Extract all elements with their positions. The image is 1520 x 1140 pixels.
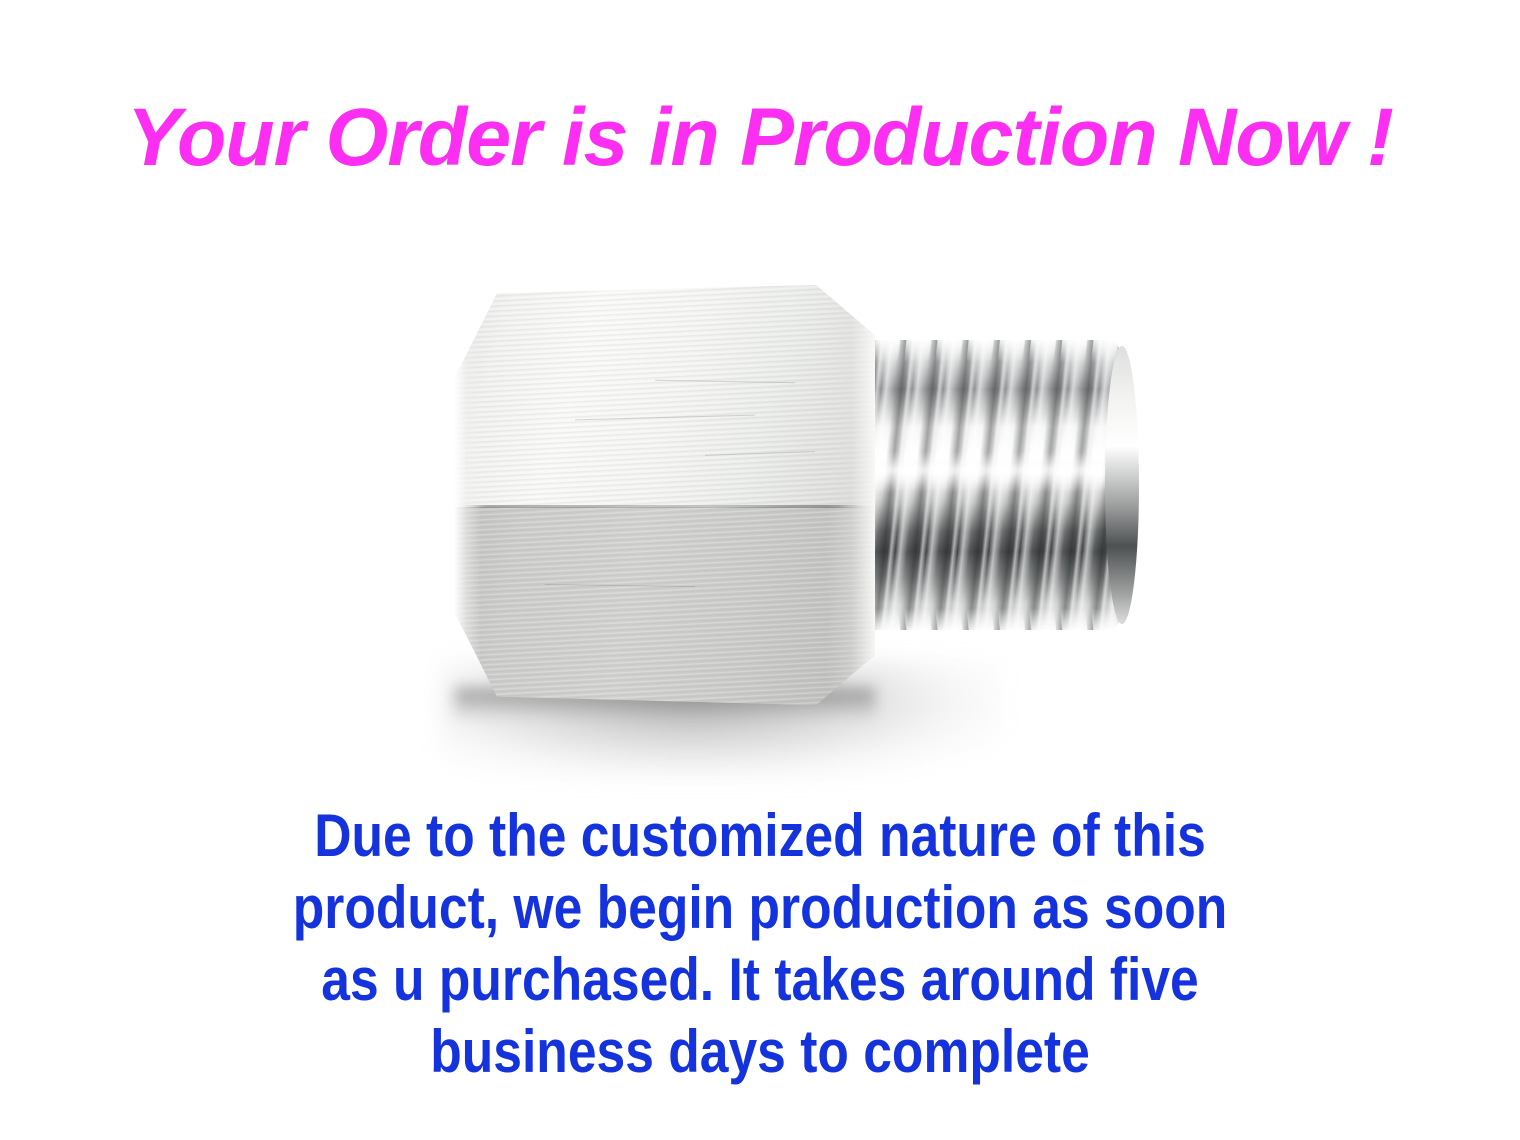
thread-teeth-bottom	[857, 608, 1123, 634]
hex-face-edge	[457, 505, 873, 508]
hex-left-bevel	[455, 293, 481, 697]
thread-teeth-top	[857, 336, 1123, 362]
page-title: Your Order is in Production Now !	[11, 92, 1508, 184]
threaded-nipple	[855, 340, 1135, 630]
promo-banner: Your Order is in Production Now !	[0, 0, 1520, 1140]
hex-right-bevel	[827, 291, 875, 699]
product-image	[400, 240, 1200, 780]
thread-highlight	[861, 452, 1119, 492]
notice-line-2: product, we begin production as soon	[235, 872, 1284, 944]
notice-line-4: business days to complete	[235, 1016, 1284, 1088]
thread-end-cap	[1105, 346, 1139, 624]
machining-striations	[455, 285, 875, 705]
hex-body	[455, 285, 875, 705]
notice-line-3: as u purchased. It takes around five	[235, 944, 1284, 1016]
notice-line-1: Due to the customized nature of this	[235, 800, 1284, 872]
production-notice: Due to the customized nature of this pro…	[150, 800, 1370, 1088]
